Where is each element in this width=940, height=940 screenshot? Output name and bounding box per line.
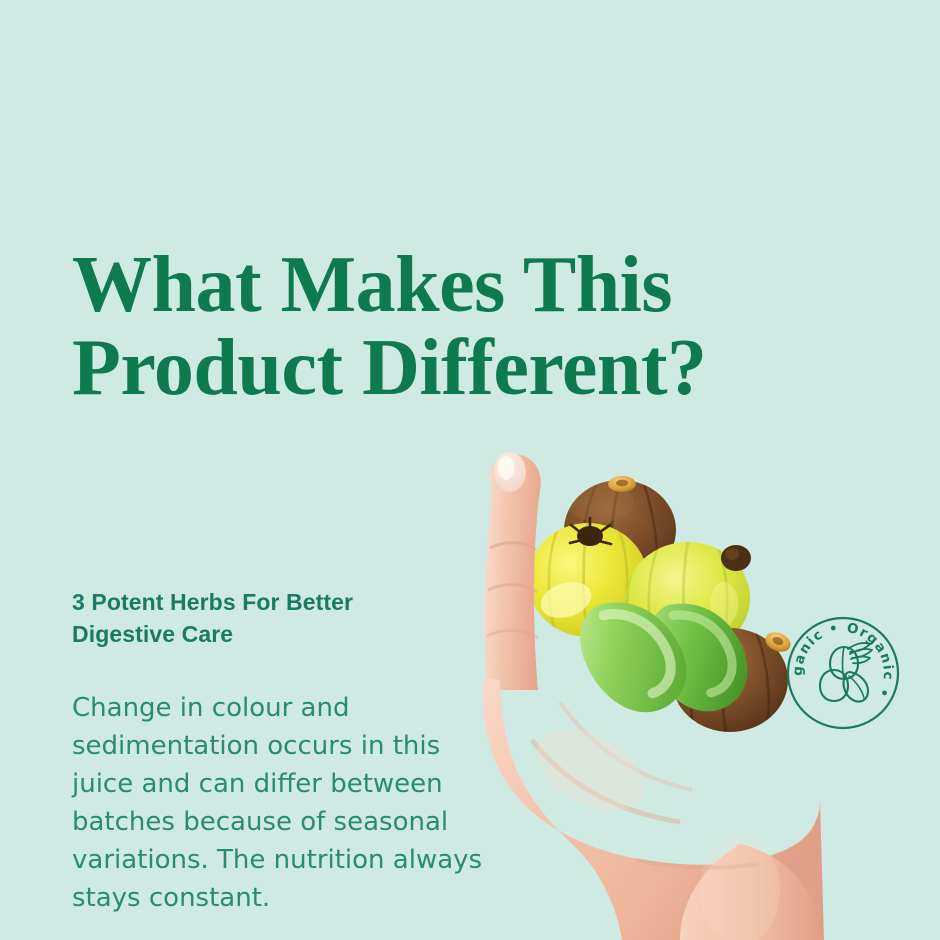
- fruit-leaf-icon: [820, 643, 872, 701]
- amla-stem-right: [721, 545, 751, 571]
- subheading: 3 Potent Herbs For Better Digestive Care: [72, 586, 432, 650]
- badge-ring-text: Organic • Organic •: [786, 616, 896, 701]
- organic-badge: Organic • Organic •: [786, 616, 900, 730]
- page-title: What Makes This Product Different?: [72, 244, 772, 410]
- body-paragraph: Change in colour and sedimentation occur…: [72, 690, 492, 918]
- poster-canvas: What Makes This Product Different? 3 Pot…: [0, 0, 940, 940]
- badge-ring-text-path: Organic • Organic •: [786, 616, 896, 701]
